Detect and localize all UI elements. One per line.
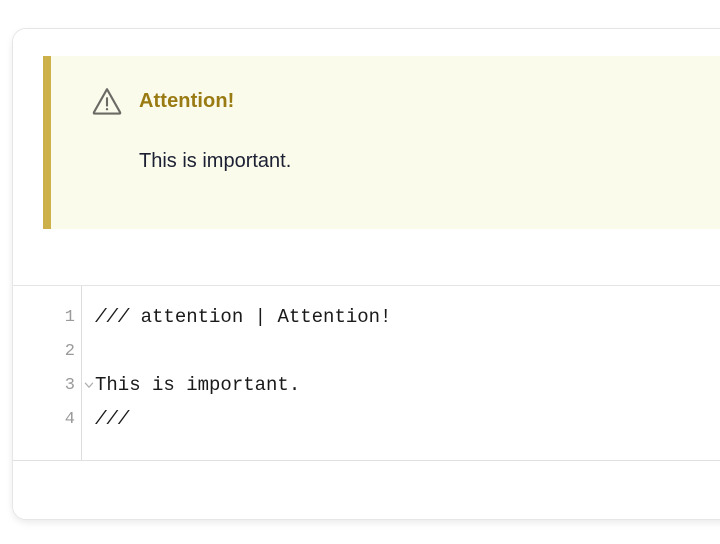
line-number: 4 xyxy=(65,411,75,428)
gutter-row: 2 xyxy=(13,334,81,368)
code-line[interactable]: /// xyxy=(95,402,720,436)
code-editor[interactable]: 1 2 3 4 /// attention | Attention xyxy=(13,286,720,461)
admonition-header: Attention! xyxy=(91,86,234,116)
admonition-attention: Attention! This is important. xyxy=(43,56,720,229)
gutter-row: 4 xyxy=(13,402,81,436)
code-token-text: attention | Attention! xyxy=(129,308,391,327)
admonition-body-text: This is important. xyxy=(139,148,291,175)
code-token-fence: /// xyxy=(95,410,129,429)
preview-pane: Attention! This is important. xyxy=(13,29,720,286)
code-line[interactable]: This is important. xyxy=(95,368,720,402)
code-line[interactable] xyxy=(95,334,720,368)
line-number-gutter: 1 2 3 4 xyxy=(13,286,82,460)
line-number: 3 xyxy=(65,377,75,394)
code-pane: 1 2 3 4 /// attention | Attention xyxy=(13,286,720,520)
code-line[interactable]: /// attention | Attention! xyxy=(95,300,720,334)
admonition-title: Attention! xyxy=(139,91,234,111)
code-content[interactable]: /// attention | Attention! This is impor… xyxy=(95,300,720,436)
preview-code-card: Attention! This is important. 1 2 3 xyxy=(12,28,720,520)
warning-triangle-icon xyxy=(91,86,123,116)
line-number: 1 xyxy=(65,309,75,326)
chevron-down-icon[interactable] xyxy=(83,379,95,391)
gutter-row: 3 xyxy=(13,368,81,402)
code-token-fence: /// xyxy=(95,308,129,327)
gutter-row: 1 xyxy=(13,300,81,334)
line-number: 2 xyxy=(65,343,75,360)
code-token-text: This is important. xyxy=(95,376,300,395)
